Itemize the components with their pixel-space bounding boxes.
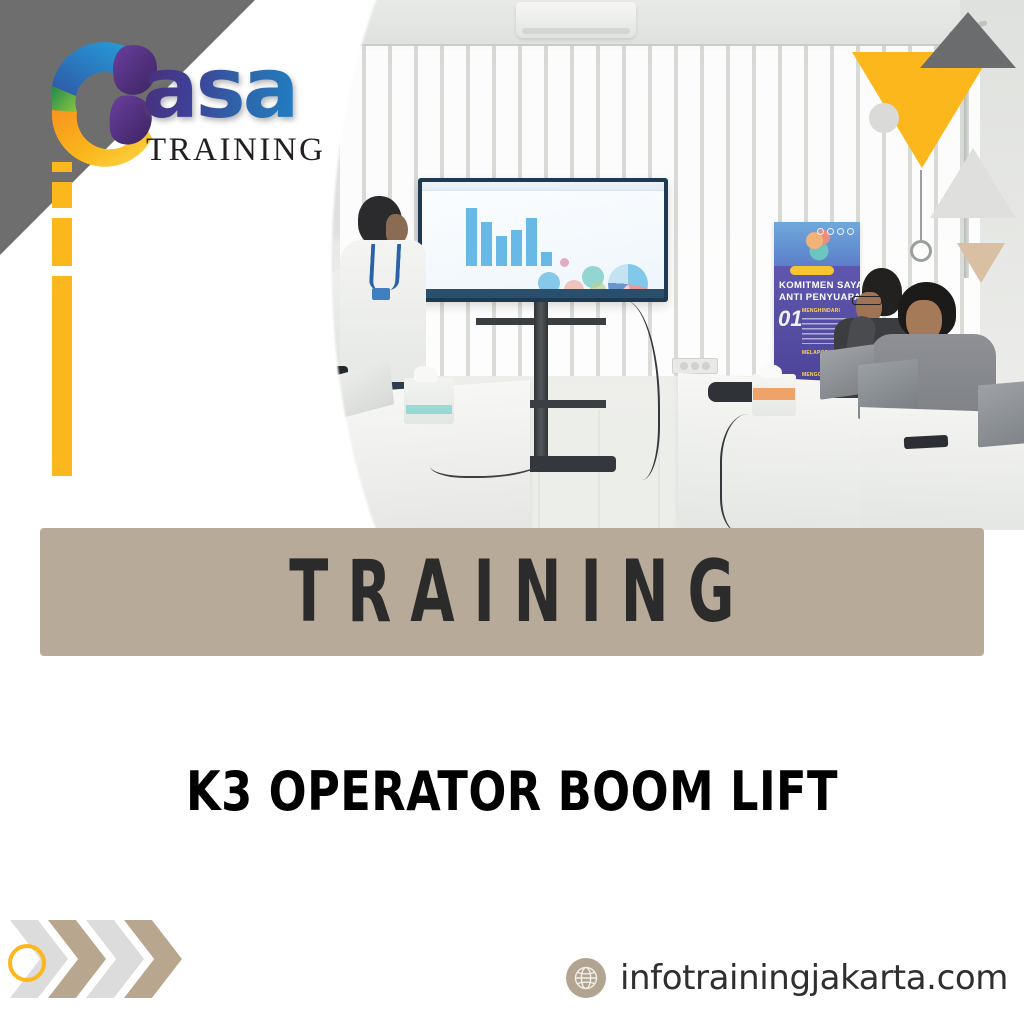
footer-website[interactable]: infotrainingjakarta.com <box>566 958 1008 998</box>
logo-subtitle: TRAINING <box>146 132 325 169</box>
presenter-lanyard <box>369 244 401 290</box>
poster-tag <box>790 266 834 275</box>
participant-1-glasses <box>852 296 882 305</box>
display-screen <box>422 182 664 298</box>
screen-bar-chart <box>466 208 552 266</box>
presenter-badge <box>372 288 390 300</box>
yellow-circle-outline-icon <box>8 944 46 982</box>
presentation-display <box>418 178 668 302</box>
dash-4 <box>52 276 72 476</box>
air-conditioner <box>516 2 636 38</box>
logo-wordmark-group: asa TRAINING <box>142 46 372 156</box>
globe-icon <box>566 958 606 998</box>
tissue-box-right <box>752 374 796 416</box>
poster-sub-1: MENGHINDARI <box>802 308 840 314</box>
screen-taskbar <box>422 289 664 298</box>
poster-canvas: KOMITMEN SAYA ANTI PENYUAPAN 01 MENGHIND… <box>0 0 1024 1024</box>
poster-header <box>774 222 860 266</box>
tissue-box-left <box>404 378 454 424</box>
cable-right <box>720 414 790 530</box>
page-title: K3 OPERATOR BOOM LIFT <box>41 760 983 823</box>
phone-on-table-1 <box>904 435 949 449</box>
display-stand-post <box>534 302 548 460</box>
poster-headline-1: KOMITMEN SAYA <box>779 280 860 291</box>
dash-3 <box>52 218 72 266</box>
laptop-c <box>978 379 1024 448</box>
poster-dots <box>817 228 854 235</box>
training-banner-label: TRAINING <box>270 542 753 642</box>
training-banner: TRAINING <box>40 528 984 656</box>
wall-outlet <box>672 358 718 374</box>
poster-number-1: 01 <box>778 306 802 332</box>
brand-logo[interactable]: asa TRAINING <box>30 18 330 158</box>
hanging-line <box>920 170 922 242</box>
screen-toolbar <box>422 182 664 191</box>
hanging-ring <box>910 240 932 262</box>
website-url: infotrainingjakarta.com <box>620 958 1008 998</box>
dash-2 <box>52 182 72 208</box>
logo-wordmark: asa <box>142 46 296 130</box>
poster-headline-2: ANTI PENYUAPAN <box>779 292 860 303</box>
yellow-dash-column <box>52 162 72 486</box>
gray-circle-icon <box>869 103 899 133</box>
